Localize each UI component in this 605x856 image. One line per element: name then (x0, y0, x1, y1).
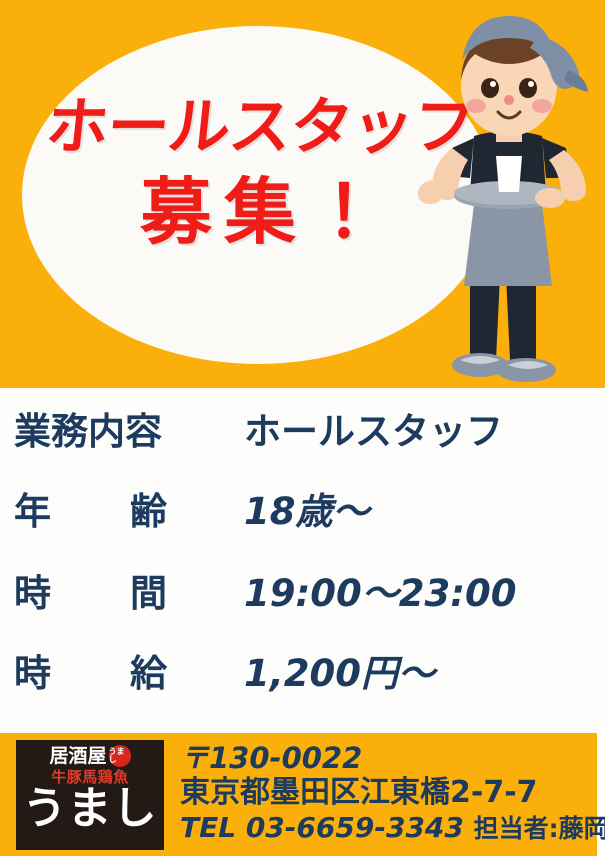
contact-block: 〒130-0022 東京都墨田区江東橋2-7-7 TEL 03-6659-334… (180, 741, 590, 844)
legs-group (470, 276, 536, 360)
drink-glass (496, 156, 522, 192)
cheek-left (466, 99, 486, 113)
nose (504, 95, 514, 105)
eye-left (481, 78, 499, 98)
job-details-panel: 業務内容 ホールスタッフ 年齢 18歳〜 時間 19:00〜23:00 時給 1… (0, 388, 605, 733)
tel-number[interactable]: 03-6659-3343 (246, 811, 464, 844)
detail-row: 時間 19:00〜23:00 (0, 574, 605, 615)
cheek-right (532, 99, 552, 113)
tel-label: TEL (180, 811, 236, 844)
hero-panel: ホールスタッフ 募集！ (0, 0, 605, 388)
detail-label-hours: 時間 (0, 574, 244, 615)
detail-label-age: 年齢 (0, 492, 244, 533)
logo-izakaya-text: 居酒屋 (49, 747, 106, 766)
detail-value-hours: 19:00〜23:00 (244, 574, 605, 615)
detail-value-wage: 1,200円〜 (244, 654, 605, 695)
job-recruitment-poster: ホールスタッフ 募集！ (0, 0, 605, 856)
hand-right (535, 188, 565, 208)
detail-label-wage: 時給 (0, 654, 244, 695)
postal-code: 〒130-0022 (180, 741, 590, 775)
detail-label-job-type: 業務内容 (0, 412, 244, 453)
logo-shop-name: うまし (23, 786, 158, 832)
eye-right (519, 78, 537, 98)
detail-row: 時給 1,200円〜 (0, 654, 605, 695)
detail-row: 業務内容 ホールスタッフ (0, 412, 605, 453)
telephone-line[interactable]: TEL 03-6659-3343 担当者:藤岡 (180, 811, 590, 844)
detail-value-job-type: ホールスタッフ (244, 412, 605, 453)
contact-person: 担当者:藤岡 (474, 814, 605, 843)
logo-seal-icon: うまし (109, 745, 131, 767)
detail-value-age: 18歳〜 (244, 492, 605, 533)
waitress-illustration (412, 8, 605, 388)
street-address: 東京都墨田区江東橋2-7-7 (180, 775, 590, 810)
restaurant-logo: 居酒屋 うまし 牛豚馬鶏魚 うまし (16, 740, 164, 850)
footer-contact-band: 居酒屋 うまし 牛豚馬鶏魚 うまし 〒130-0022 東京都墨田区江東橋2-7… (0, 733, 597, 856)
shoes-group (452, 353, 556, 382)
detail-row: 年齢 18歳〜 (0, 492, 605, 533)
logo-top-line: 居酒屋 うまし (49, 745, 130, 767)
